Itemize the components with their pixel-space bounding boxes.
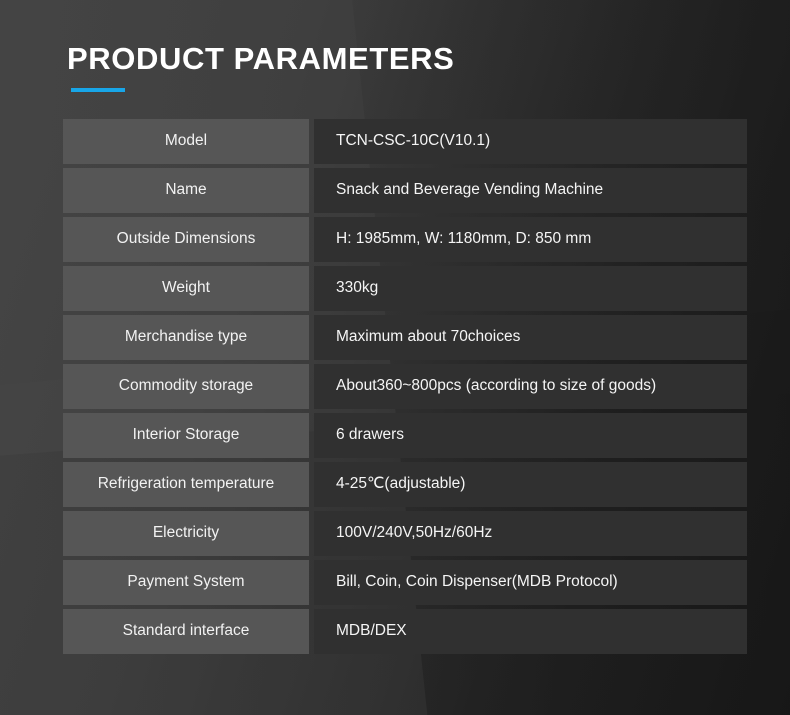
spec-label-cell: Refrigeration temperature — [63, 462, 309, 507]
spec-label-cell: Standard interface — [63, 609, 309, 654]
table-row: Standard interfaceMDB/DEX — [63, 609, 747, 654]
title-accent-bar — [71, 88, 125, 92]
spec-label-cell: Name — [63, 168, 309, 213]
spec-label-cell: Outside Dimensions — [63, 217, 309, 262]
spec-value-cell: MDB/DEX — [314, 609, 747, 654]
spec-value-cell: 330kg — [314, 266, 747, 311]
spec-value-cell: 100V/240V,50Hz/60Hz — [314, 511, 747, 556]
table-row: ModelTCN-CSC-10C(V10.1) — [63, 119, 747, 164]
spec-value-cell: Bill, Coin, Coin Dispenser(MDB Protocol) — [314, 560, 747, 605]
specification-table: ModelTCN-CSC-10C(V10.1)NameSnack and Bev… — [63, 119, 747, 654]
spec-label-cell: Weight — [63, 266, 309, 311]
table-row: Payment SystemBill, Coin, Coin Dispenser… — [63, 560, 747, 605]
table-row: Refrigeration temperature4-25℃(adjustabl… — [63, 462, 747, 507]
product-parameters-page: PRODUCT PARAMETERS ModelTCN-CSC-10C(V10.… — [0, 0, 790, 715]
table-row: Commodity storageAbout360~800pcs (accord… — [63, 364, 747, 409]
page-title: PRODUCT PARAMETERS — [67, 40, 454, 78]
table-row: Outside DimensionsH: 1985mm, W: 1180mm, … — [63, 217, 747, 262]
table-row: Electricity100V/240V,50Hz/60Hz — [63, 511, 747, 556]
spec-label-cell: Model — [63, 119, 309, 164]
table-row: NameSnack and Beverage Vending Machine — [63, 168, 747, 213]
spec-label-cell: Electricity — [63, 511, 309, 556]
spec-value-cell: Maximum about 70choices — [314, 315, 747, 360]
spec-value-cell: Snack and Beverage Vending Machine — [314, 168, 747, 213]
table-row: Weight330kg — [63, 266, 747, 311]
spec-label-cell: Merchandise type — [63, 315, 309, 360]
spec-value-cell: About360~800pcs (according to size of go… — [314, 364, 747, 409]
table-row: Interior Storage6 drawers — [63, 413, 747, 458]
spec-label-cell: Payment System — [63, 560, 309, 605]
spec-label-cell: Commodity storage — [63, 364, 309, 409]
spec-value-cell: TCN-CSC-10C(V10.1) — [314, 119, 747, 164]
spec-label-cell: Interior Storage — [63, 413, 309, 458]
table-row: Merchandise typeMaximum about 70choices — [63, 315, 747, 360]
spec-value-cell: 4-25℃(adjustable) — [314, 462, 747, 507]
spec-value-cell: 6 drawers — [314, 413, 747, 458]
spec-value-cell: H: 1985mm, W: 1180mm, D: 850 mm — [314, 217, 747, 262]
